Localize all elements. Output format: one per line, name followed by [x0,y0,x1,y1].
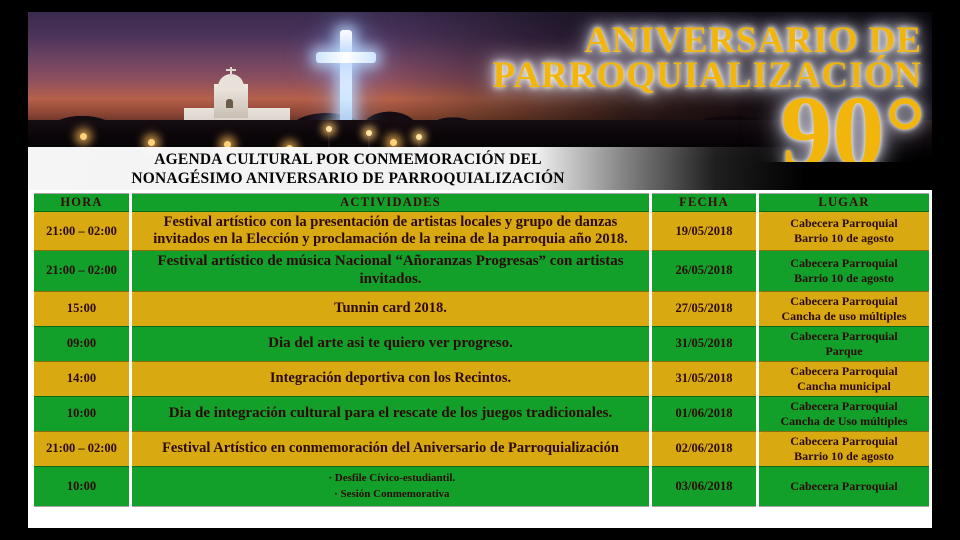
cell-lugar: Cabecera ParroquialBarrio 10 de agosto [758,431,931,466]
lugar-line2: Barrio 10 de agosto [764,271,924,286]
lugar-line1: Cabecera Parroquial [764,479,924,494]
cell-hora: 09:00 [33,326,131,361]
cell-hora: 10:00 [33,396,131,431]
hero-title-line1: ANIVERSARIO DE [492,24,922,59]
table-row: 21:00 – 02:00Festival artístico de músic… [33,251,931,291]
cell-hora: 21:00 – 02:00 [33,251,131,291]
cell-fecha: 01/06/2018 [651,396,758,431]
table-row: 15:00Tunnin card 2018.27/05/2018Cabecera… [33,291,931,326]
lugar-line2: Cancha de Uso múltiples [764,414,924,429]
table-row: 10:00Dia de integración cultural para el… [33,396,931,431]
lugar-line1: Cabecera Parroquial [764,216,924,231]
cell-fecha: 31/05/2018 [651,326,758,361]
cell-actividad: Festival artístico de música Nacional “A… [131,251,651,291]
lugar-line2: Cancha de uso múltiples [764,309,924,324]
table-header-row: HORA ACTIVIDADES FECHA LUGAR [33,194,931,212]
cell-lugar: Cabecera Parroquial [758,466,931,506]
cell-actividad: Festival artístico con la presentación d… [131,212,651,251]
cell-hora: 10:00 [33,466,131,506]
lugar-line2: Cancha municipal [764,379,924,394]
lugar-line1: Cabecera Parroquial [764,399,924,414]
cell-actividad: Dia del arte asi te quiero ver progreso. [131,326,651,361]
agenda-banner-line2: NONAGÉSIMO ANIVERSARIO DE PARROQUIALIZAC… [28,170,668,189]
cell-actividad: Dia de integración cultural para el resc… [131,396,651,431]
cell-lugar: Cabecera ParroquialBarrio 10 de agosto [758,212,931,251]
cell-lugar: Cabecera ParroquialCancha de Uso múltipl… [758,396,931,431]
cell-hora: 21:00 – 02:00 [33,212,131,251]
cell-lugar: Cabecera ParroquialCancha municipal [758,361,931,396]
lugar-line1: Cabecera Parroquial [764,294,924,309]
activity-bullet-list: ·Desfile Cívico-estudiantil.·Sesión Conm… [137,472,644,501]
activity-bullet-text: Sesión Conmemorativa [340,488,449,500]
activity-bullet-item: ·Sesión Conmemorativa [137,488,644,501]
agenda-table: HORA ACTIVIDADES FECHA LUGAR 21:00 – 02:… [31,193,932,507]
column-header-actividades: ACTIVIDADES [131,194,651,212]
cell-lugar: Cabecera ParroquialCancha de uso múltipl… [758,291,931,326]
cell-fecha: 31/05/2018 [651,361,758,396]
cell-fecha: 02/06/2018 [651,431,758,466]
cell-hora: 15:00 [33,291,131,326]
activity-bullet-item: ·Desfile Cívico-estudiantil. [137,472,644,485]
agenda-banner: AGENDA CULTURAL POR CONMEMORACIÓN DEL NO… [28,147,932,192]
column-header-hora: HORA [33,194,131,212]
lugar-line1: Cabecera Parroquial [764,364,924,379]
agenda-banner-line1: AGENDA CULTURAL POR CONMEMORACIÓN DEL [28,151,668,170]
lugar-line1: Cabecera Parroquial [764,329,924,344]
cell-actividad: Integración deportiva con los Recintos. [131,361,651,396]
cell-fecha: 27/05/2018 [651,291,758,326]
lugar-line1: Cabecera Parroquial [764,434,924,449]
poster: ANIVERSARIO DE PARROQUIALIZACIÓN 90° AGE… [0,0,960,540]
hero-photo: ANIVERSARIO DE PARROQUIALIZACIÓN 90° [28,12,932,162]
cell-actividad: Tunnin card 2018. [131,291,651,326]
cell-hora: 21:00 – 02:00 [33,431,131,466]
table-row: 09:00Dia del arte asi te quiero ver prog… [33,326,931,361]
table-row: 21:00 – 02:00Festival Artístico en conme… [33,431,931,466]
lugar-line2: Barrio 10 de agosto [764,231,924,246]
cell-hora: 14:00 [33,361,131,396]
cell-lugar: Cabecera ParroquialBarrio 10 de agosto [758,251,931,291]
agenda-banner-text: AGENDA CULTURAL POR CONMEMORACIÓN DEL NO… [28,151,668,189]
lugar-line2: Barrio 10 de agosto [764,449,924,464]
bullet-icon: · [326,472,335,485]
cell-actividad: ·Desfile Cívico-estudiantil.·Sesión Conm… [131,466,651,506]
street-lamp-icon [390,139,397,146]
lugar-line1: Cabecera Parroquial [764,256,924,271]
agenda-table-container: HORA ACTIVIDADES FECHA LUGAR 21:00 – 02:… [28,190,932,528]
table-row: 21:00 – 02:00Festival artístico con la p… [33,212,931,251]
column-header-lugar: LUGAR [758,194,931,212]
cell-fecha: 26/05/2018 [651,251,758,291]
street-lamp-icon [148,139,155,146]
cell-actividad: Festival Artístico en conmemoración del … [131,431,651,466]
agenda-table-body: 21:00 – 02:00Festival artístico con la p… [33,212,931,507]
column-header-fecha: FECHA [651,194,758,212]
table-row: 14:00Integración deportiva con los Recin… [33,361,931,396]
cell-fecha: 19/05/2018 [651,212,758,251]
street-lamp-icon [80,133,87,140]
activity-bullet-text: Desfile Cívico-estudiantil. [335,472,455,484]
cell-lugar: Cabecera ParroquialParque [758,326,931,361]
lugar-line2: Parque [764,344,924,359]
cell-fecha: 03/06/2018 [651,466,758,506]
table-row: 10:00·Desfile Cívico-estudiantil.·Sesión… [33,466,931,506]
